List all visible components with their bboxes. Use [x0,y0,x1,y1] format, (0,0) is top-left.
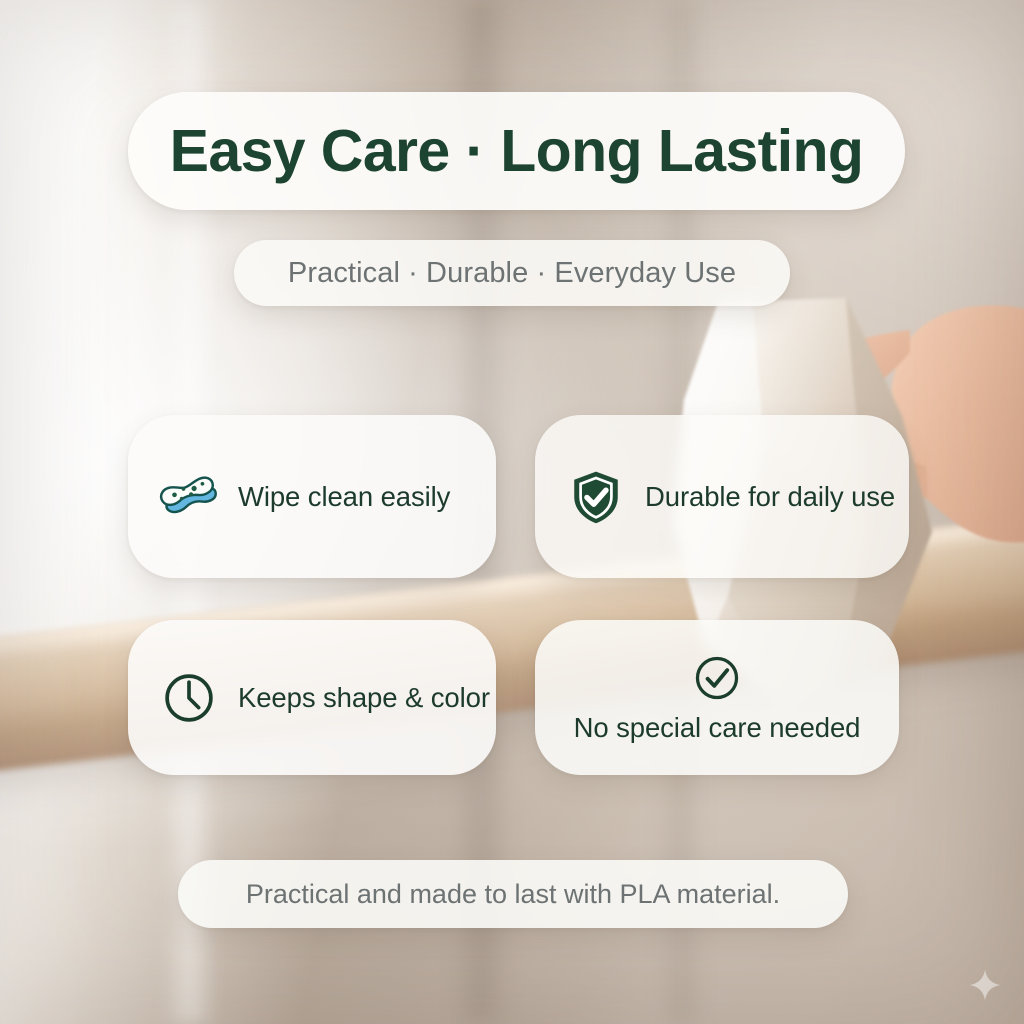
subtitle-pill: Practical · Durable · Everyday Use [234,240,790,306]
feature-card-nocare[interactable]: No special care needed [535,620,899,775]
shield-check-icon [565,466,627,528]
sponge-icon [158,466,220,528]
page-title: Easy Care · Long Lasting [170,122,864,181]
footer-pill: Practical and made to last with PLA mate… [178,860,848,928]
feature-card-shape[interactable]: Keeps shape & color [128,620,496,775]
feature-card-durable[interactable]: Durable for daily use [535,415,909,578]
feature-label-nocare: No special care needed [574,712,861,744]
feature-label-shape: Keeps shape & color [238,682,490,714]
page-subtitle: Practical · Durable · Everyday Use [288,257,736,290]
title-pill: Easy Care · Long Lasting [128,92,905,210]
clock-icon [158,667,220,729]
feature-label-wipe: Wipe clean easily [238,481,450,513]
check-circle-icon [691,652,743,704]
footer-text: Practical and made to last with PLA mate… [246,879,780,910]
feature-card-wipe[interactable]: Wipe clean easily [128,415,496,578]
feature-label-durable: Durable for daily use [645,481,895,513]
sparkle-icon [968,968,1002,1002]
infographic-canvas: Easy Care · Long Lasting Practical · Dur… [0,0,1024,1024]
